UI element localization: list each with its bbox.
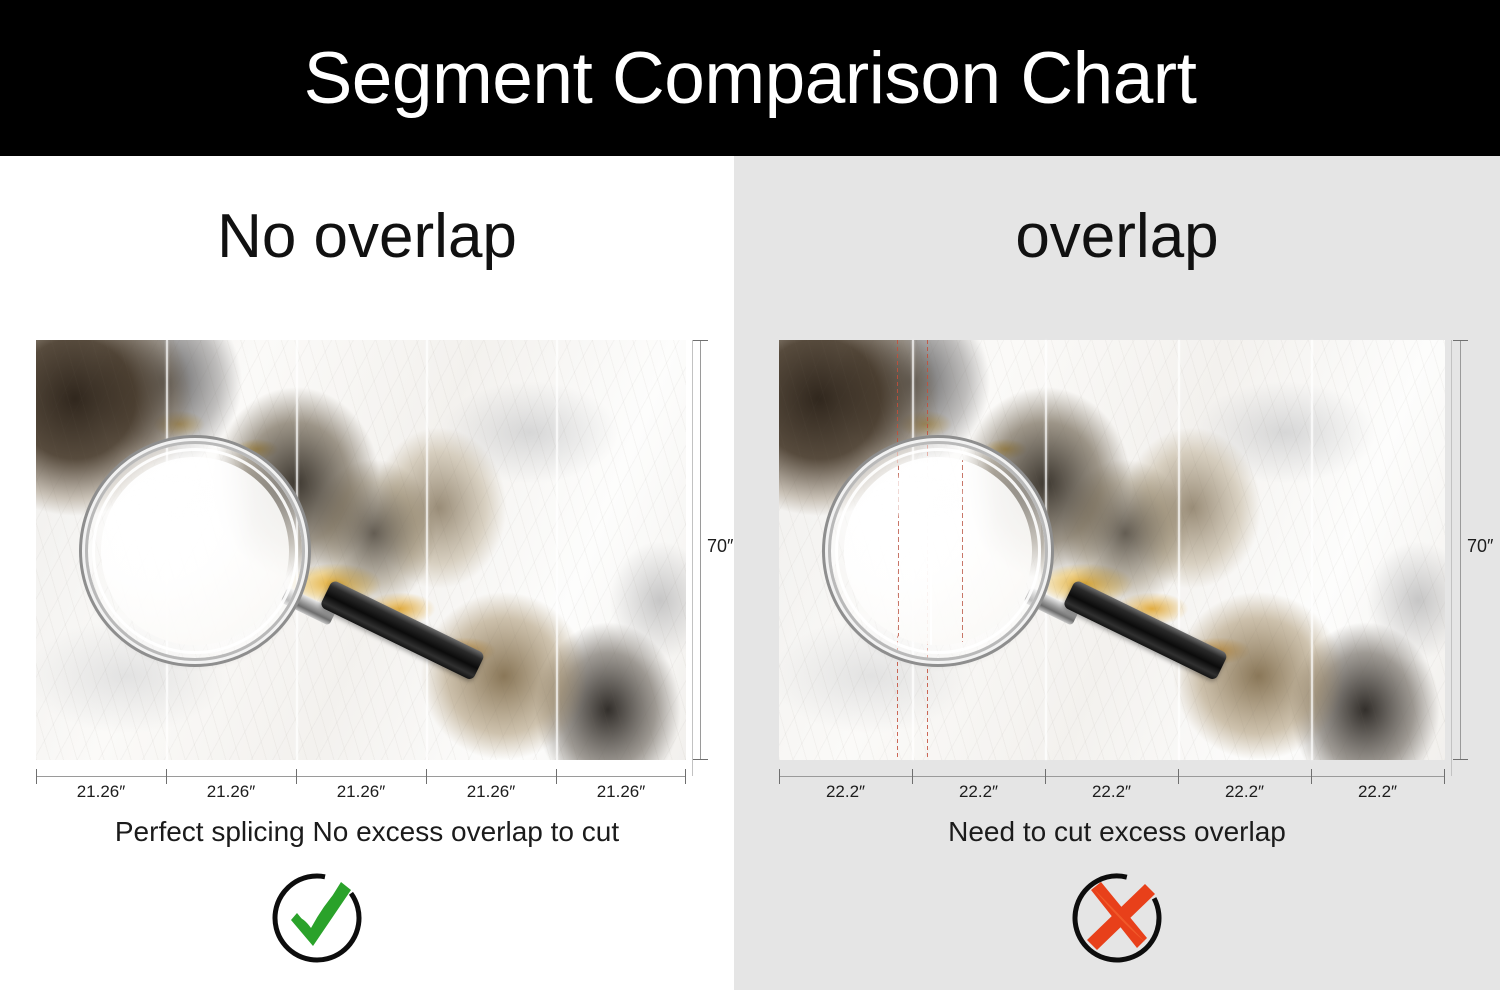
segment-width-label: 22.2″ (912, 782, 1045, 802)
dimension-tick (1444, 769, 1445, 784)
right-mural-wrapper (779, 340, 1445, 760)
segment-width-label: 21.26″ (296, 782, 426, 802)
dimension-rule (1460, 340, 1461, 760)
dimension-rule (36, 776, 686, 777)
cross-mark-icon (1067, 868, 1167, 968)
segment-width-label: 22.2″ (1178, 782, 1311, 802)
segment-width-label: 21.26″ (556, 782, 686, 802)
segment-width-label: 21.26″ (36, 782, 166, 802)
segment-width-label: 21.26″ (426, 782, 556, 802)
left-width-dimension: 21.26″ 21.26″ 21.26″ 21.26″ 21.26″ (36, 776, 686, 810)
right-caption: Need to cut excess overlap (734, 816, 1500, 848)
left-mural-artwork (36, 340, 686, 760)
segment-width-label: 21.26″ (166, 782, 296, 802)
dimension-tick (693, 759, 708, 760)
height-label: 70″ (1467, 536, 1493, 557)
left-extension-line (692, 340, 693, 776)
check-mark-icon (267, 868, 367, 968)
panel-no-overlap: No overlap (0, 156, 734, 990)
panel-overlap: overlap (734, 156, 1500, 990)
left-mural-wrapper (36, 340, 686, 760)
right-mural-artwork (779, 340, 1445, 760)
segment-width-label: 22.2″ (779, 782, 912, 802)
dimension-tick (1453, 759, 1468, 760)
segment-width-label: 22.2″ (1045, 782, 1178, 802)
left-panel-heading: No overlap (0, 206, 734, 268)
right-extension-line (1451, 340, 1452, 776)
left-caption: Perfect splicing No excess overlap to cu… (0, 816, 734, 848)
dimension-tick (693, 340, 708, 341)
height-label: 70″ (707, 536, 733, 557)
title-banner: Segment Comparison Chart (0, 0, 1500, 156)
right-panel-heading: overlap (734, 206, 1500, 268)
right-width-dimension: 22.2″ 22.2″ 22.2″ 22.2″ 22.2″ (779, 776, 1445, 810)
page-title: Segment Comparison Chart (304, 42, 1197, 115)
dimension-rule (700, 340, 701, 760)
segment-comparison-chart: Segment Comparison Chart No overlap (0, 0, 1500, 990)
dimension-rule (779, 776, 1445, 777)
dimension-tick (1453, 340, 1468, 341)
segment-width-label: 22.2″ (1311, 782, 1444, 802)
